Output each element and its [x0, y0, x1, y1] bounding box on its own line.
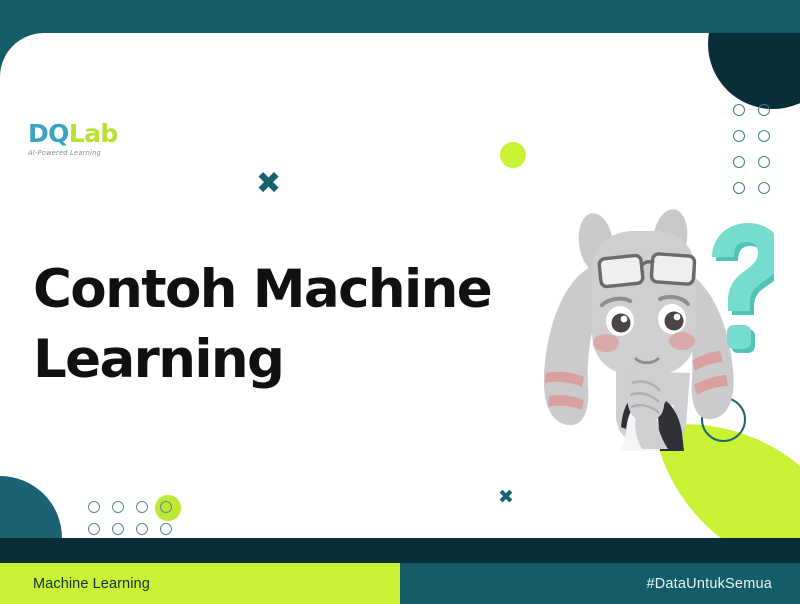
grid-dot: [733, 104, 745, 116]
x-mark-icon-large: ✖: [256, 169, 281, 199]
footer-hashtag-container: #DataUntukSemua: [400, 563, 800, 604]
logo-wordmark: DQLab: [28, 121, 124, 146]
teal-corner-circle-decoration: [0, 476, 62, 538]
grid-dot: [758, 104, 770, 116]
grid-dot: [136, 523, 148, 535]
x-mark-icon-small: ✖: [498, 488, 514, 507]
grid-dot: [136, 501, 148, 513]
slide-canvas: DQLab AI-Powered Learning Contoh Machine…: [0, 0, 800, 604]
slide-footer: Machine Learning #DataUntukSemua: [0, 563, 800, 604]
grid-dot: [88, 523, 100, 535]
grid-dot: [112, 523, 124, 535]
grid-dot: [733, 156, 745, 168]
grid-dot: [160, 523, 172, 535]
logo-lab-text: Lab: [69, 119, 118, 148]
grid-dot: [758, 130, 770, 142]
lime-dot-decoration: [500, 142, 526, 168]
navy-corner-circle-decoration: [708, 33, 800, 109]
grid-dot: [733, 182, 745, 194]
grid-dot: [758, 182, 770, 194]
grid-dot: [112, 501, 124, 513]
page-title: Contoh Machine Learning: [33, 255, 533, 396]
grid-dot: [733, 130, 745, 142]
content-card: DQLab AI-Powered Learning Contoh Machine…: [0, 33, 800, 538]
footer-topic-label: Machine Learning: [33, 576, 150, 592]
logo-dq-text: DQ: [28, 119, 69, 148]
grid-dot: [88, 501, 100, 513]
dqlab-logo: DQLab AI-Powered Learning: [28, 121, 124, 157]
grid-dot: [160, 501, 172, 513]
logo-tagline: AI-Powered Learning: [28, 149, 124, 157]
grid-dot: [758, 156, 770, 168]
footer-topic-label-container: Machine Learning: [0, 563, 400, 604]
dot-grid-top-right: [733, 104, 783, 208]
navy-divider-band: [0, 536, 800, 566]
thinking-bunny-mascot-icon: [524, 201, 774, 451]
footer-hashtag-label: #DataUntukSemua: [646, 576, 772, 592]
